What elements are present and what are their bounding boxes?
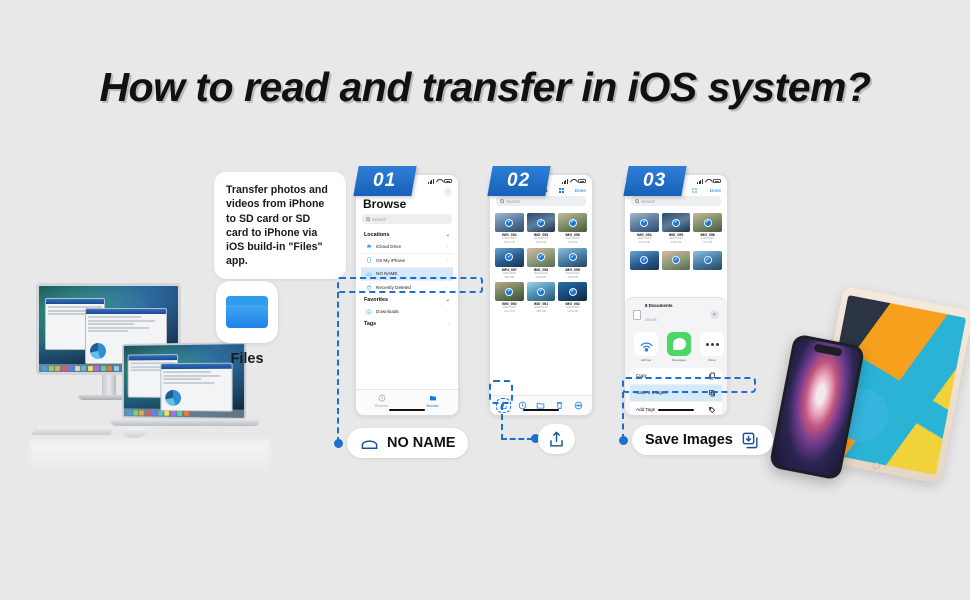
photo-thumbnail: ✓ [558, 213, 587, 232]
photo-cell[interactable]: ✓ IMG_055 2022/10/07 1165 KB [662, 213, 691, 244]
files-app: Files [216, 281, 278, 367]
list-item-label: NO NAME [376, 271, 397, 276]
highlight-box-share [489, 380, 513, 404]
done-button[interactable]: Done [710, 188, 721, 193]
macbook-base [111, 419, 260, 426]
photo-thumbnail: ✓ [558, 248, 587, 267]
list-item-icloud-drive[interactable]: iCloud Drive › [361, 240, 453, 254]
checkmark-icon: ✓ [672, 256, 680, 264]
tab-recents[interactable]: Recents [356, 394, 407, 408]
checkmark-icon: ✓ [640, 219, 648, 227]
connector-line-2a [501, 404, 503, 440]
photo-size: 1019 KB [527, 276, 556, 280]
chevron-right-icon: › [448, 321, 450, 327]
folder-icon [216, 281, 278, 343]
more-icon [700, 332, 724, 356]
checkmark-icon: ✓ [704, 256, 712, 264]
checkmark-icon: ✓ [569, 253, 577, 261]
tag-icon [708, 406, 716, 414]
photo-thumbnail: ✓ [527, 248, 556, 267]
photo-size: 974 KB [693, 241, 722, 245]
tab-label: Recents [375, 404, 388, 408]
photo-size: 1021 KB [495, 241, 524, 245]
close-icon[interactable]: ✕ [710, 310, 719, 319]
callout-no-name: NO NAME [347, 428, 468, 458]
photo-size: 974 KB [558, 241, 587, 245]
search-input[interactable]: Search [496, 196, 586, 206]
grid-icon[interactable] [559, 188, 564, 193]
photo-thumbnail[interactable]: ✓ [662, 251, 691, 270]
checkmark-icon: ✓ [640, 256, 648, 264]
photo-thumbnail[interactable]: ✓ [630, 251, 659, 270]
photo-thumbnail: ✓ [693, 213, 722, 232]
signal-icon [562, 179, 568, 184]
chevron-down-icon[interactable]: ⌄ [446, 297, 450, 303]
ipad-home-button [872, 462, 880, 470]
checkmark-icon: ✓ [704, 219, 712, 227]
phone-mockup-step-1: ⋯ Browse Search Locations ⌄ iCloud Drive… [355, 174, 459, 416]
macbook-dock [124, 408, 244, 418]
step-badge-3: 03 [623, 166, 686, 196]
photo-thumbnail: ✓ [527, 282, 556, 301]
list-item-on-my-iphone[interactable]: On My iPhone › [361, 254, 453, 268]
airdrop-icon [634, 332, 658, 356]
step-badge-2: 02 [487, 166, 550, 196]
photo-size: 1021 KB [630, 241, 659, 245]
photo-thumbnail: ✓ [527, 213, 556, 232]
connector-dot-3 [619, 436, 628, 445]
connector-line-1 [337, 292, 339, 443]
battery-icon [578, 179, 586, 183]
section-title: Favorites [364, 297, 388, 303]
grid-icon[interactable] [692, 188, 697, 193]
drive-icon [360, 434, 379, 453]
photo-grid: ✓ IMG_054 2022/10/07 1021 KB ✓ IMG_055 2… [625, 211, 727, 246]
imac-stand [102, 375, 116, 395]
photo-size: 1108 KB [558, 276, 587, 280]
search-icon [500, 199, 504, 203]
photo-cell[interactable]: ✓ IMG_061 2022/10/07 983 KB [527, 282, 556, 313]
home-indicator [523, 409, 559, 411]
phone-icon [366, 257, 372, 263]
list-item-label: iCloud Drive [376, 244, 401, 249]
share-sheet: 8 Documents 286 MB ✕ AirDrop Messages [625, 297, 727, 415]
poster-stage: How to read and transfer in iOS system? [0, 0, 970, 600]
section-header-tags[interactable]: Tags › [356, 318, 458, 329]
wifi-icon [570, 179, 576, 184]
photo-cell[interactable]: ✓ IMG_054 2022/10/07 1021 KB [630, 213, 659, 244]
checkmark-icon: ✓ [537, 253, 545, 261]
share-target-airdrop[interactable]: AirDrop [634, 332, 658, 362]
share-target-label: Messages [667, 358, 691, 362]
checkmark-icon: ✓ [569, 219, 577, 227]
device-reflection [30, 440, 270, 476]
photo-cell[interactable]: ✓ IMG_058 2022/10/07 1019 KB [527, 248, 556, 279]
photo-cell[interactable]: ✓ IMG_056 2022/10/07 974 KB [558, 213, 587, 244]
iphone-notch [814, 343, 843, 356]
search-icon [366, 217, 370, 221]
home-indicator [389, 409, 425, 411]
checkmark-icon: ✓ [505, 219, 513, 227]
tab-label: Browse [427, 404, 439, 408]
done-button[interactable]: Done [575, 188, 586, 193]
photo-cell[interactable]: ✓ MP4_057 2022/10/07 282 MB [495, 248, 524, 279]
search-input[interactable]: Search [362, 214, 452, 224]
cloud-icon [366, 243, 372, 249]
footer-band [0, 480, 970, 600]
photo-cell[interactable]: ✓ IMG_059 2022/10/07 1108 KB [558, 248, 587, 279]
step-badge-1: 01 [353, 166, 416, 196]
page-title: How to read and transfer in iOS system? [0, 64, 970, 111]
favorites-list: Downloads › [361, 305, 453, 318]
list-item-label: Downloads [376, 309, 399, 314]
search-placeholder: Search [641, 199, 655, 204]
more-icon[interactable] [574, 401, 583, 410]
browse-heading: Browse [356, 196, 458, 214]
section-header-locations: Locations ⌄ [356, 229, 458, 240]
photo-cell[interactable]: ✓ IMG_054 2022/10/07 1021 KB [495, 213, 524, 244]
photo-size: 1165 KB [527, 241, 556, 245]
keyboard [31, 426, 113, 435]
mouse [123, 427, 148, 438]
share-icon [547, 430, 566, 449]
share-target-label: AirDrop [634, 358, 658, 362]
photo-cell[interactable]: ✓ IMG_062 2022/10/07 1072 KB [558, 282, 587, 313]
save-download-icon [741, 431, 760, 450]
instruction-note: Transfer photos and videos from iPhone t… [214, 172, 346, 279]
photo-thumbnail: ✓ [630, 213, 659, 232]
share-targets: AirDrop Messages More [630, 330, 722, 368]
photo-size: 282 MB [495, 276, 524, 280]
checkmark-icon: ✓ [505, 253, 513, 261]
share-sheet-title: 8 Documents [645, 303, 673, 308]
list-item-downloads[interactable]: Downloads › [361, 305, 453, 318]
chevron-right-icon: › [446, 309, 448, 314]
chevron-right-icon: › [446, 244, 448, 249]
photo-cell[interactable]: ✓ IMG_060 2022/10/07 1214 KB [495, 282, 524, 313]
search-placeholder: Search [506, 199, 520, 204]
list-item-label: On My iPhone [376, 258, 405, 263]
photo-size: 1214 KB [495, 310, 524, 314]
photo-grid-row-2: ✓ ✓ ✓ [625, 247, 727, 272]
connector-dot-1 [334, 439, 343, 448]
photo-size: 983 KB [527, 310, 556, 314]
tab-bar: Recents Browse [356, 389, 458, 415]
connector-line-2b [501, 438, 533, 440]
download-icon [366, 309, 372, 315]
macbook-window-front [160, 363, 232, 412]
files-app-label: Files [216, 351, 278, 367]
highlight-box-no-name [337, 277, 483, 293]
section-title: Locations [364, 232, 389, 238]
chevron-right-icon: › [446, 258, 448, 263]
photo-thumbnail[interactable]: ✓ [693, 251, 722, 270]
action-label: Add Tags [636, 407, 655, 412]
search-placeholder: Search [372, 217, 386, 222]
callout-share [538, 424, 575, 454]
photo-size: 1072 KB [558, 310, 587, 314]
share-target-label: More [700, 358, 724, 362]
callout-label: Save Images [645, 432, 733, 448]
section-title: Tags [364, 321, 376, 327]
clock-icon [378, 394, 386, 402]
checkmark-icon: ✓ [672, 219, 680, 227]
chevron-right-icon: › [446, 271, 448, 276]
wifi-icon [436, 179, 442, 184]
photo-grid: ✓ IMG_054 2022/10/07 1021 KB ✓ IMG_055 2… [490, 211, 592, 315]
more-button[interactable]: ⋯ [444, 188, 452, 196]
section-header-favorites: Favorites ⌄ [356, 294, 458, 305]
photo-thumbnail: ✓ [558, 282, 587, 301]
battery-icon [444, 179, 452, 183]
tab-browse[interactable]: Browse [407, 394, 458, 408]
share-sheet-header: 8 Documents 286 MB ✕ [630, 303, 722, 330]
checkmark-icon: ✓ [569, 288, 577, 296]
share-target-messages[interactable]: Messages [667, 332, 691, 362]
battery-icon [713, 179, 721, 183]
photo-size: 1165 KB [662, 241, 691, 245]
photo-thumbnail: ✓ [662, 213, 691, 232]
signal-icon [697, 179, 703, 184]
signal-icon [428, 179, 434, 184]
checkmark-icon: ✓ [537, 219, 545, 227]
search-icon [635, 199, 639, 203]
checkmark-icon: ✓ [505, 288, 513, 296]
connector-line-3 [622, 392, 624, 440]
share-sheet-subtitle: 286 MB [645, 318, 657, 322]
messages-icon [667, 332, 691, 356]
highlight-box-save-images [622, 377, 756, 393]
checkmark-icon: ✓ [537, 288, 545, 296]
document-icon [633, 310, 641, 320]
callout-label: NO NAME [387, 435, 455, 451]
callout-save-images: Save Images [632, 425, 773, 455]
chevron-down-icon[interactable]: ⌄ [446, 232, 450, 238]
folder-icon [429, 394, 437, 402]
wifi-icon [705, 179, 711, 184]
photo-thumbnail: ✓ [495, 213, 524, 232]
photo-cell[interactable]: ✓ IMG_056 2022/10/07 974 KB [693, 213, 722, 244]
home-indicator [658, 409, 694, 411]
photo-thumbnail: ✓ [495, 282, 524, 301]
share-target-more[interactable]: More [700, 332, 724, 362]
photo-thumbnail: ✓ [495, 248, 524, 267]
search-input[interactable]: Search [631, 196, 721, 206]
photo-cell[interactable]: ✓ IMG_055 2022/10/07 1165 KB [527, 213, 556, 244]
